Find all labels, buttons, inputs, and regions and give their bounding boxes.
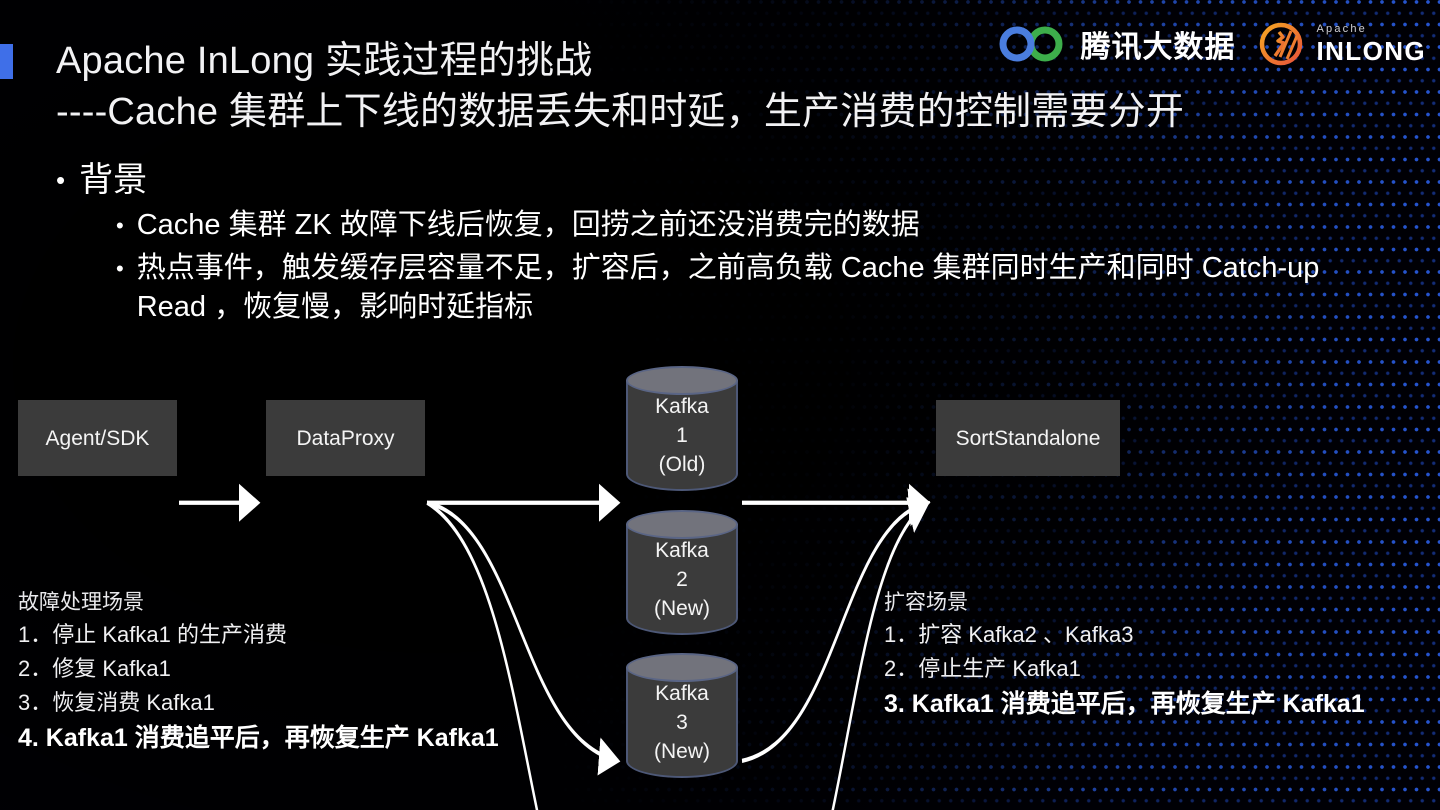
bullet-level2-label: 热点事件，触发缓存层容量不足，扩容后，之前高负载 Cache 集群同时生产和同时…	[137, 249, 1396, 327]
slide-canvas: Apache InLong 实践过程的挑战 ----Cache 集群上下线的数据…	[0, 0, 1440, 810]
bullet-list: • 背景 • Cache 集群 ZK 故障下线后恢复，回捞之前还没消费完的数据 …	[56, 158, 1396, 327]
bullet-level1-label: 背景	[79, 158, 147, 202]
inlong-name-label: INLONG	[1316, 38, 1426, 64]
node-kafka-1-label: Kafka 1 (Old)	[626, 392, 738, 479]
bullet-marker-icon: •	[116, 206, 124, 245]
title-line-2: ----Cache 集群上下线的数据丢失和时延，生产消费的控制需要分开	[56, 87, 1184, 138]
node-agent-sdk-label: Agent/SDK	[46, 425, 150, 452]
failure-scenario-block: 故障处理场景 1．停止 Kafka1 的生产消费 2．修复 Kafka1 3．恢…	[18, 588, 499, 756]
failure-scenario-step: 1．停止 Kafka1 的生产消费	[18, 618, 499, 652]
node-sortstandalone[interactable]: SortStandalone	[936, 400, 1120, 476]
inlong-wordmark: Apache INLONG	[1316, 24, 1426, 64]
logo-bar: 腾讯大数据 Apache INLONG	[997, 20, 1426, 68]
cylinder-cap	[626, 366, 738, 395]
inlong-apache-label: Apache	[1316, 24, 1426, 35]
failure-scenario-title: 故障处理场景	[18, 588, 499, 618]
tencent-infinity-icon	[997, 24, 1069, 64]
scaleup-scenario-block: 扩容场景 1．扩容 Kafka2 、Kafka3 2．停止生产 Kafka1 3…	[884, 588, 1365, 722]
bullet-marker-icon: •	[56, 158, 65, 202]
bullet-level1: • 背景	[56, 158, 1396, 202]
scaleup-scenario-step: 2．停止生产 Kafka1	[884, 652, 1365, 686]
kafka-index: 2	[626, 565, 738, 594]
node-kafka-3-label: Kafka 3 (New)	[626, 679, 738, 766]
failure-scenario-step: 4. Kafka1 消费追平后，再恢复生产 Kafka1	[18, 720, 499, 756]
cylinder-cap	[626, 653, 738, 682]
cylinder-cap	[626, 510, 738, 539]
node-kafka-1[interactable]: Kafka 1 (Old)	[626, 366, 738, 491]
tencent-big-data-logo: 腾讯大数据	[997, 22, 1235, 66]
scaleup-scenario-title: 扩容场景	[884, 588, 1365, 618]
kafka-name: Kafka	[626, 392, 738, 421]
bullet-marker-icon: •	[116, 249, 124, 288]
kafka-index: 3	[626, 708, 738, 737]
failure-scenario-step: 2．修复 Kafka1	[18, 652, 499, 686]
node-dataproxy[interactable]: DataProxy	[266, 400, 425, 476]
kafka-name: Kafka	[626, 679, 738, 708]
node-agent-sdk[interactable]: Agent/SDK	[18, 400, 177, 476]
scaleup-scenario-step: 3. Kafka1 消费追平后，再恢复生产 Kafka1	[884, 686, 1365, 722]
inlong-mark-icon	[1257, 20, 1305, 68]
kafka-index: 1	[626, 421, 738, 450]
bullet-level2-item: • 热点事件，触发缓存层容量不足，扩容后，之前高负载 Cache 集群同时生产和…	[116, 249, 1396, 327]
kafka-state: (Old)	[626, 450, 738, 479]
kafka-state: (New)	[626, 737, 738, 766]
tencent-big-data-label: 腾讯大数据	[1080, 22, 1235, 66]
scaleup-scenario-step: 1．扩容 Kafka2 、Kafka3	[884, 618, 1365, 652]
bullet-level2-list: • Cache 集群 ZK 故障下线后恢复，回捞之前还没消费完的数据 • 热点事…	[56, 206, 1396, 327]
node-dataproxy-label: DataProxy	[296, 425, 394, 452]
title-accent-bar	[0, 44, 13, 79]
apache-inlong-logo: Apache INLONG	[1257, 20, 1426, 68]
bullet-level2-label: Cache 集群 ZK 故障下线后恢复，回捞之前还没消费完的数据	[137, 206, 920, 245]
failure-scenario-step: 3．恢复消费 Kafka1	[18, 686, 499, 720]
node-kafka-2-label: Kafka 2 (New)	[626, 536, 738, 623]
kafka-state: (New)	[626, 594, 738, 623]
node-sortstandalone-label: SortStandalone	[956, 425, 1101, 452]
bullet-level2-item: • Cache 集群 ZK 故障下线后恢复，回捞之前还没消费完的数据	[116, 206, 1396, 245]
node-kafka-2[interactable]: Kafka 2 (New)	[626, 510, 738, 635]
kafka-name: Kafka	[626, 536, 738, 565]
node-kafka-3[interactable]: Kafka 3 (New)	[626, 653, 738, 778]
